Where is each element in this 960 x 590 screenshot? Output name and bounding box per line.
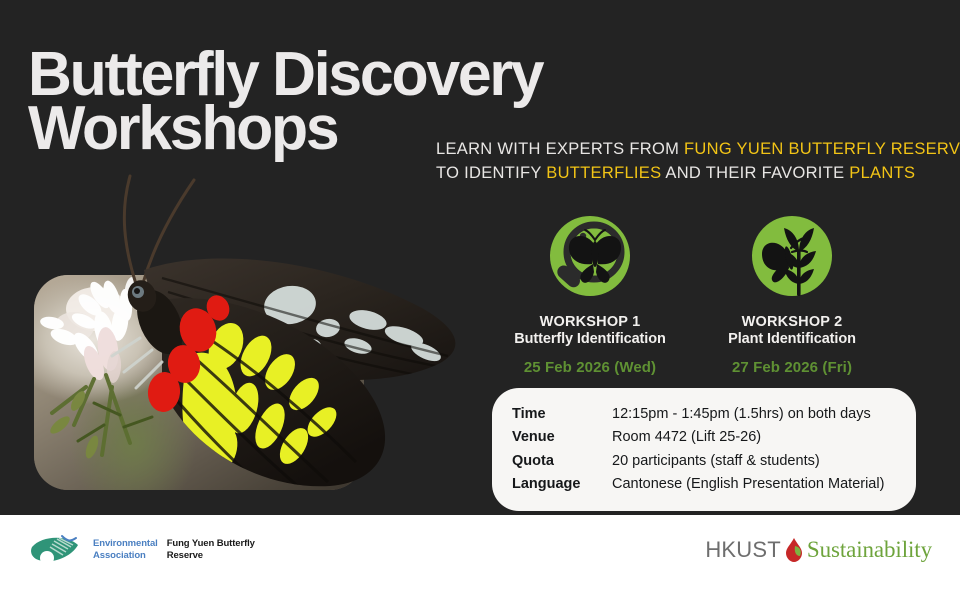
reserve-line-1: Fung Yuen Butterfly <box>167 538 255 550</box>
info-value-venue: Room 4472 (Lift 25-26) <box>612 426 896 450</box>
subtitle-text-identify: TO IDENTIFY <box>436 164 546 182</box>
workshop-1-subject: Butterfly Identification <box>490 331 690 348</box>
flame-leaf-icon <box>783 537 805 563</box>
workshop-2-date-row: 27 Feb 2026 (Fri) <box>692 359 892 376</box>
sustainability-wordmark: Sustainability <box>807 537 932 563</box>
event-details-panel: Time 12:15pm - 1:45pm (1.5hrs) on both d… <box>492 388 916 511</box>
poster-canvas: Butterfly Discovery Workshops LEARN WITH… <box>0 0 960 590</box>
subtitle-highlight-butterflies: BUTTERFLIES <box>546 164 661 182</box>
magnifier-butterfly-icon <box>544 212 636 304</box>
info-value-language: Cantonese (English Presentation Material… <box>612 473 896 497</box>
info-label-quota: Quota <box>512 449 612 473</box>
subtitle-highlight-plants: PLANTS <box>849 164 915 182</box>
butterfly-cutout <box>12 150 482 510</box>
workshop-2-date: 27 Feb 2026 <box>732 359 818 376</box>
subtitle-line-1: LEARN WITH EXPERTS FROM FUNG YUEN BUTTER… <box>436 138 960 162</box>
fung-yuen-logo: Environmental Association Fung Yuen Butt… <box>28 533 255 567</box>
org-line-1: Environmental <box>93 538 158 550</box>
leaf-wing-icon <box>28 533 84 567</box>
workshop-1-date: 25 Feb 2026 <box>524 359 610 376</box>
reserve-line-2: Reserve <box>167 550 255 562</box>
poster-subtitle: LEARN WITH EXPERTS FROM FUNG YUEN BUTTER… <box>436 138 960 186</box>
workshop-2-block: WORKSHOP 2 Plant Identification 27 Feb 2… <box>692 212 892 376</box>
butterfly-plant-icon <box>746 212 838 304</box>
fung-yuen-org-text: Environmental Association <box>93 538 158 561</box>
workshop-1-block: WORKSHOP 1 Butterfly Identification 25 F… <box>490 212 690 376</box>
info-value-quota: 20 participants (staff & students) <box>612 449 896 473</box>
info-label-language: Language <box>512 473 612 497</box>
workshop-1-date-row: 25 Feb 2026 (Wed) <box>490 359 690 376</box>
info-value-time: 12:15pm - 1:45pm (1.5hrs) on both days <box>612 402 896 426</box>
workshop-2-subject: Plant Identification <box>692 331 892 348</box>
workshop-1-day: (Wed) <box>614 359 656 376</box>
footer-bar: Environmental Association Fung Yuen Butt… <box>0 515 960 590</box>
event-details-table: Time 12:15pm - 1:45pm (1.5hrs) on both d… <box>512 402 896 496</box>
subtitle-text-lead: LEARN WITH EXPERTS FROM <box>436 140 684 158</box>
table-row: Venue Room 4472 (Lift 25-26) <box>512 426 896 450</box>
info-label-time: Time <box>512 402 612 426</box>
fung-yuen-reserve-text: Fung Yuen Butterfly Reserve <box>167 538 255 561</box>
subtitle-highlight-reserve: FUNG YUEN BUTTERFLY RESERVE <box>684 140 960 158</box>
workshop-2-day: (Fri) <box>822 359 852 376</box>
table-row: Language Cantonese (English Presentation… <box>512 473 896 497</box>
hkust-sustainability-logo: HKUST Sustainability <box>705 537 932 563</box>
workshop-1-name: WORKSHOP 1 <box>490 314 690 331</box>
workshop-2-name: WORKSHOP 2 <box>692 314 892 331</box>
subtitle-text-favorite: AND THEIR FAVORITE <box>661 164 849 182</box>
info-label-venue: Venue <box>512 426 612 450</box>
org-line-2: Association <box>93 550 158 562</box>
subtitle-line-2: TO IDENTIFY BUTTERFLIES AND THEIR FAVORI… <box>436 162 960 186</box>
table-row: Time 12:15pm - 1:45pm (1.5hrs) on both d… <box>512 402 896 426</box>
butterfly-artwork <box>12 150 482 510</box>
hkust-wordmark: HKUST <box>705 537 781 563</box>
table-row: Quota 20 participants (staff & students) <box>512 449 896 473</box>
